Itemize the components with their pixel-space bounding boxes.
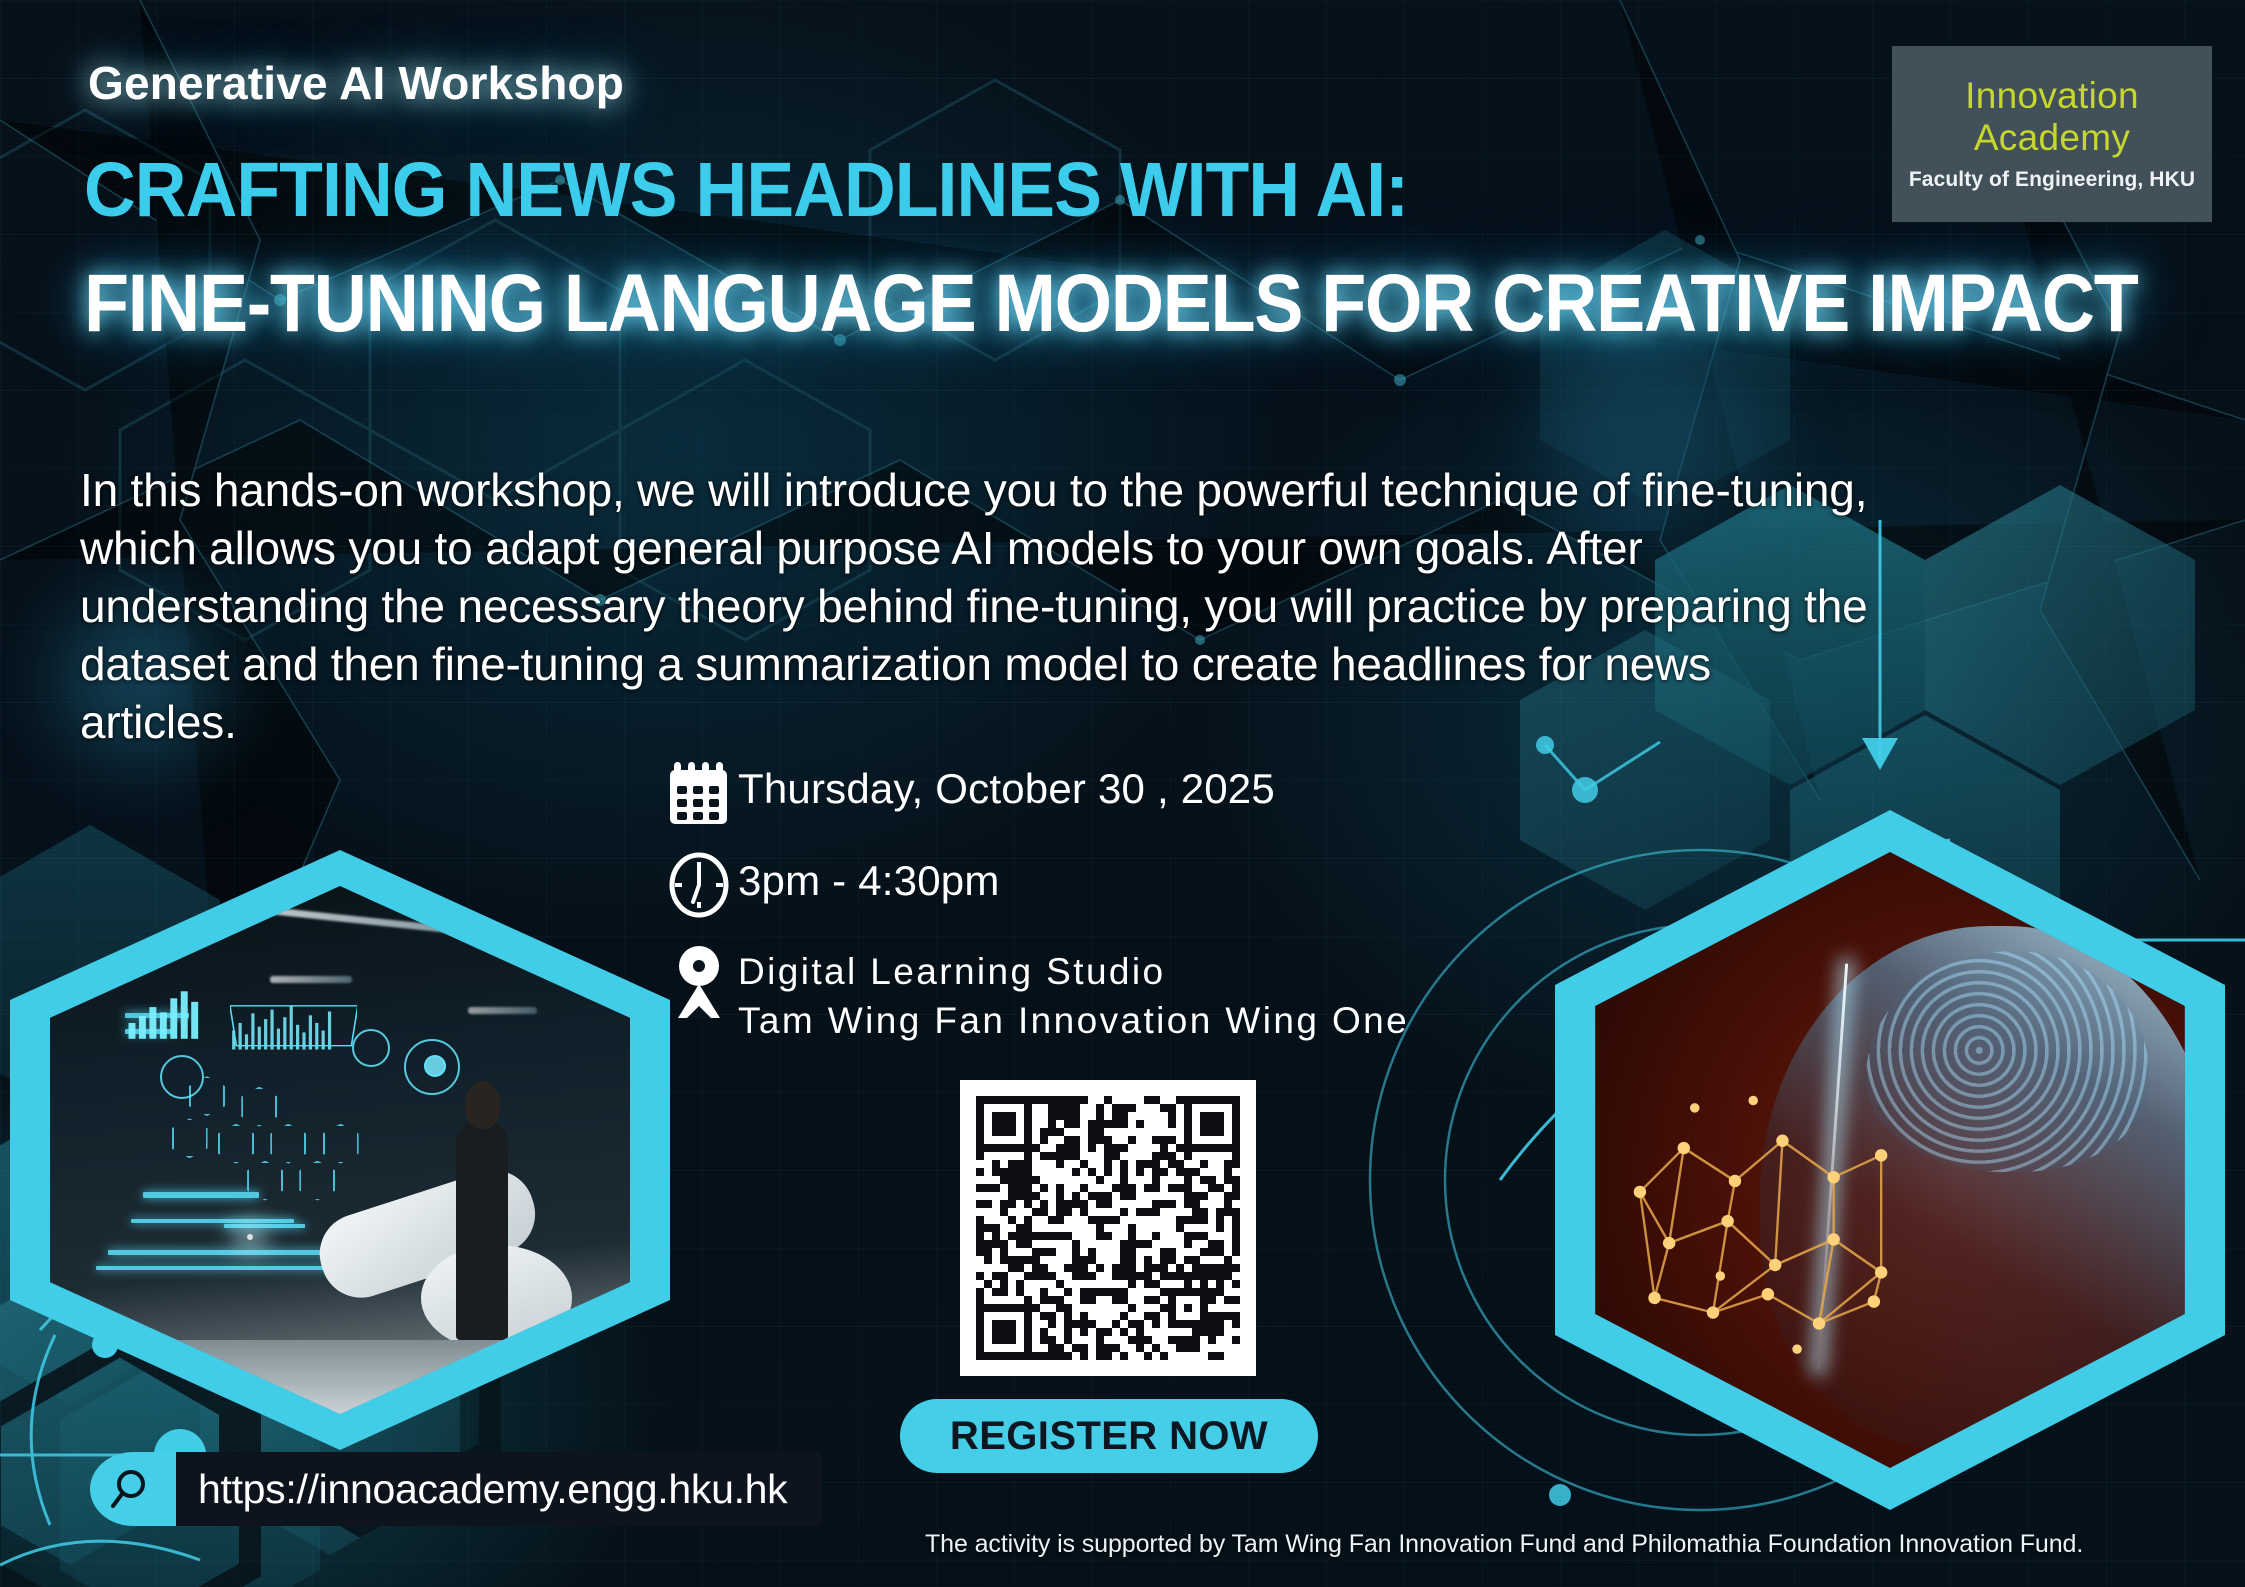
register-now-button[interactable]: REGISTER NOW (900, 1399, 1318, 1473)
right-hexagon-photo (1595, 852, 2185, 1468)
event-date: Thursday, October 30 , 2025 (738, 760, 1275, 814)
holographic-factory-scene (50, 886, 631, 1414)
search-magnifier-icon (90, 1452, 176, 1526)
clock-icon (660, 852, 738, 918)
detail-row-time: 3pm - 4:30pm (660, 852, 1409, 918)
left-hexagon-image (10, 850, 670, 1450)
logo-subtitle: Faculty of Engineering, HKU (1909, 168, 2195, 192)
url-bar: https://innoacademy.engg.hku.hk (176, 1452, 821, 1526)
page-kicker: Generative AI Workshop (88, 56, 624, 110)
workshop-description: In this hands-on workshop, we will intro… (80, 462, 1870, 752)
poster-root: Generative AI Workshop CRAFTING NEWS HEA… (0, 0, 2245, 1587)
right-hexagon-image (1555, 810, 2225, 1510)
event-details: Thursday, October 30 , 2025 3pm - 4:30pm (660, 760, 1409, 1072)
venue-line-1: Digital Learning Studio (738, 951, 1166, 992)
logo-name-line1: Innovation (1965, 76, 2139, 116)
event-venue: Digital Learning Studio Tam Wing Fan Inn… (738, 944, 1409, 1046)
qr-code[interactable] (960, 1080, 1256, 1376)
page-title-line2: FINE-TUNING LANGUAGE MODELS FOR CREATIVE… (84, 263, 2137, 345)
left-hexagon-frame (10, 850, 670, 1450)
location-pin-icon (660, 944, 738, 1024)
detail-row-venue: Digital Learning Studio Tam Wing Fan Inn… (660, 944, 1409, 1046)
innovation-academy-logo: Innovation Academy Faculty of Engineerin… (1892, 46, 2212, 222)
left-hexagon-photo (50, 886, 631, 1414)
page-title-line1: CRAFTING NEWS HEADLINES WITH AI: (84, 152, 1408, 229)
qr-code-matrix (976, 1096, 1240, 1360)
logo-name-line2: Academy (1974, 118, 2130, 158)
right-hexagon-frame (1555, 810, 2225, 1510)
website-url-row[interactable]: https://innoacademy.engg.hku.hk (90, 1452, 821, 1526)
event-time: 3pm - 4:30pm (738, 852, 1000, 906)
calendar-icon (660, 760, 738, 826)
funding-footer: The activity is supported by Tam Wing Fa… (925, 1530, 2083, 1559)
detail-row-date: Thursday, October 30 , 2025 (660, 760, 1409, 826)
ai-brain-head-scene (1595, 852, 2185, 1468)
venue-line-2: Tam Wing Fan Innovation Wing One (738, 1000, 1409, 1041)
website-url[interactable]: https://innoacademy.engg.hku.hk (198, 1466, 787, 1513)
